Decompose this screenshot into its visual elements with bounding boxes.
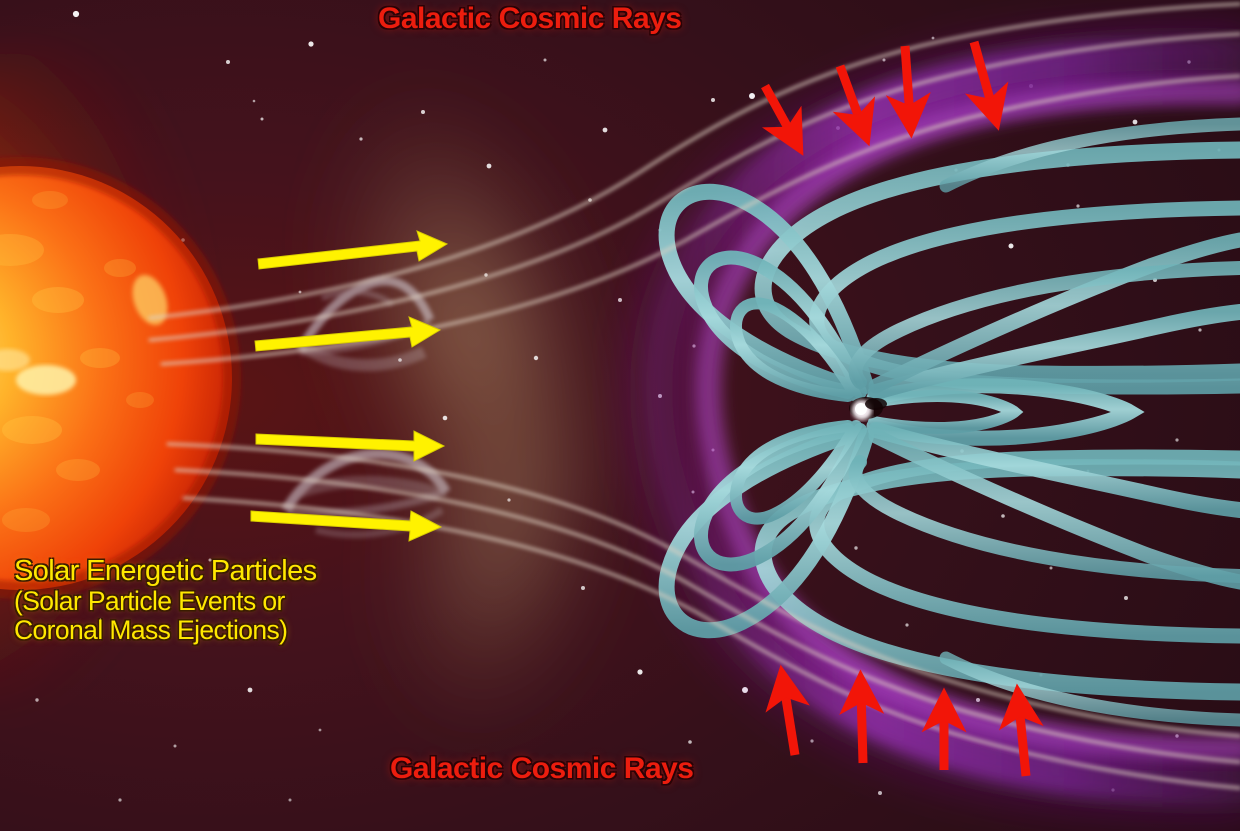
space-weather-diagram: Galactic Cosmic Rays Galactic Cosmic Ray… <box>0 0 1240 831</box>
gcr-arrow-bottom <box>784 686 1026 776</box>
galactic-cosmic-ray-arrows <box>0 0 1240 831</box>
gcr-arrow-top <box>765 42 993 137</box>
sep-label-line-3: Coronal Mass Ejections) <box>14 616 317 645</box>
sep-label-line-1: Solar Energetic Particles <box>14 556 317 587</box>
label-solar-energetic-particles: Solar Energetic Particles (Solar Particl… <box>14 556 317 645</box>
sep-label-line-2: (Solar Particle Events or <box>14 587 317 616</box>
